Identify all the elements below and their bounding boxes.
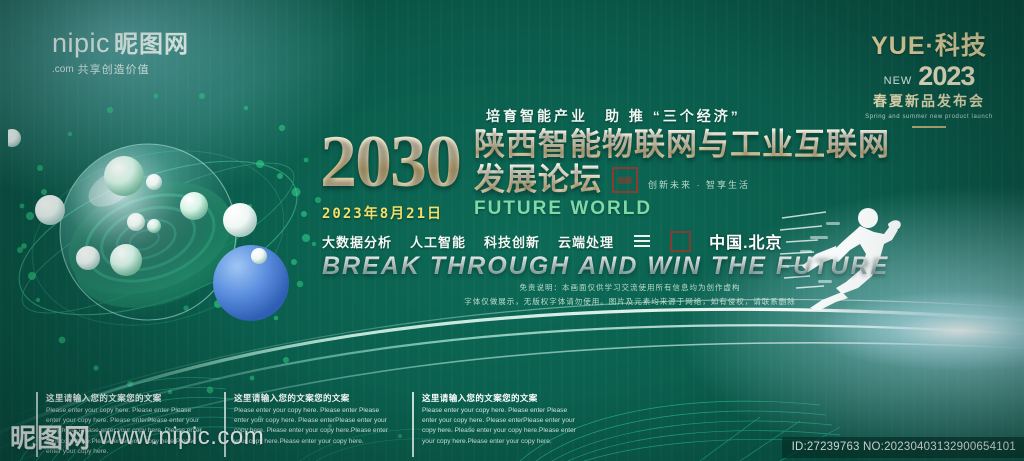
keyword-item: 人工智能 (410, 232, 466, 251)
copy-block-heading: 这里请输入您的文案您的文案 (234, 392, 392, 404)
watermark-bottom: 昵图网 www.nipic.com (10, 418, 264, 455)
english-slogan: BREAK THROUGH AND WIN THE FUTURE (322, 252, 889, 281)
image-id-bar: ID:27239763 NO:20230403132900654101 (782, 437, 1024, 458)
headline-title-line1: 陕西智能物联网与工业互联网 (474, 128, 890, 163)
event-location: 中国.北京 (709, 229, 782, 253)
disclaimer-text: 免责说明：本画面仅供学习交流使用所有信息均为创作虚构 字体仅做展示，无版权字体请… (420, 281, 840, 309)
headline-future-world: FUTURE WORLD (474, 198, 890, 220)
badge-new-label: NEW (884, 75, 913, 90)
watermark-bottom-brand: 昵图网 (10, 418, 91, 455)
watermark-brand: nipic (52, 30, 110, 57)
watermark-tagline: 共享创造价值 (78, 61, 150, 77)
watermark-brand-cn: 昵图网 (114, 33, 189, 57)
headline-title-line2: 发展论坛 (474, 163, 602, 198)
headline-subtitle: 培育智能产业 助 推 “三个经济” (486, 106, 1000, 126)
disclaimer-line-2: 字体仅做展示，无版权字体请勿使用。图片及元素均来源于网络，如有侵权，请联系删除 (420, 295, 840, 309)
copy-block: 这里请输入您的文案您的文案 Please enter your copy her… (412, 392, 580, 457)
hamburger-icon (634, 235, 650, 247)
headline-seal-tagline: 创新未来 · 智享生活 (648, 178, 750, 191)
red-seal-stamp: 创新 (612, 167, 638, 193)
keyword-item: 科技创新 (484, 232, 540, 251)
molecule-artwork (8, 120, 328, 350)
copy-block-heading: 这里请输入您的文案您的文案 (422, 392, 580, 404)
keyword-item: 大数据分析 (322, 232, 392, 251)
red-seal-icon (670, 231, 691, 252)
watermark-bottom-url: www.nipic.com (99, 423, 264, 451)
seal-text: 创新 (617, 176, 632, 185)
poster-canvas: nipic 昵图网 .com 共享创造价值 YUE·科技 NEW 2023 春夏… (0, 0, 1024, 461)
copy-block-heading: 这里请输入您的文案您的文案 (46, 392, 204, 404)
badge-year: 2023 (918, 64, 974, 90)
watermark-logo-top: nipic 昵图网 .com 共享创造价值 (52, 30, 189, 77)
copy-block-body: Please enter your copy here. Please ente… (422, 406, 580, 447)
event-date: 2023年8月21日 (322, 203, 443, 223)
headline-year: 2030 (320, 128, 460, 196)
keyword-item: 云端处理 (558, 232, 614, 251)
watermark-domain: .com (52, 64, 74, 75)
keyword-row: 大数据分析 人工智能 科技创新 云端处理 中国.北京 (322, 229, 783, 253)
badge-brand: YUE·科技 (864, 26, 994, 62)
disclaimer-line-1: 免责说明：本画面仅供学习交流使用所有信息均为创作虚构 (420, 281, 840, 295)
